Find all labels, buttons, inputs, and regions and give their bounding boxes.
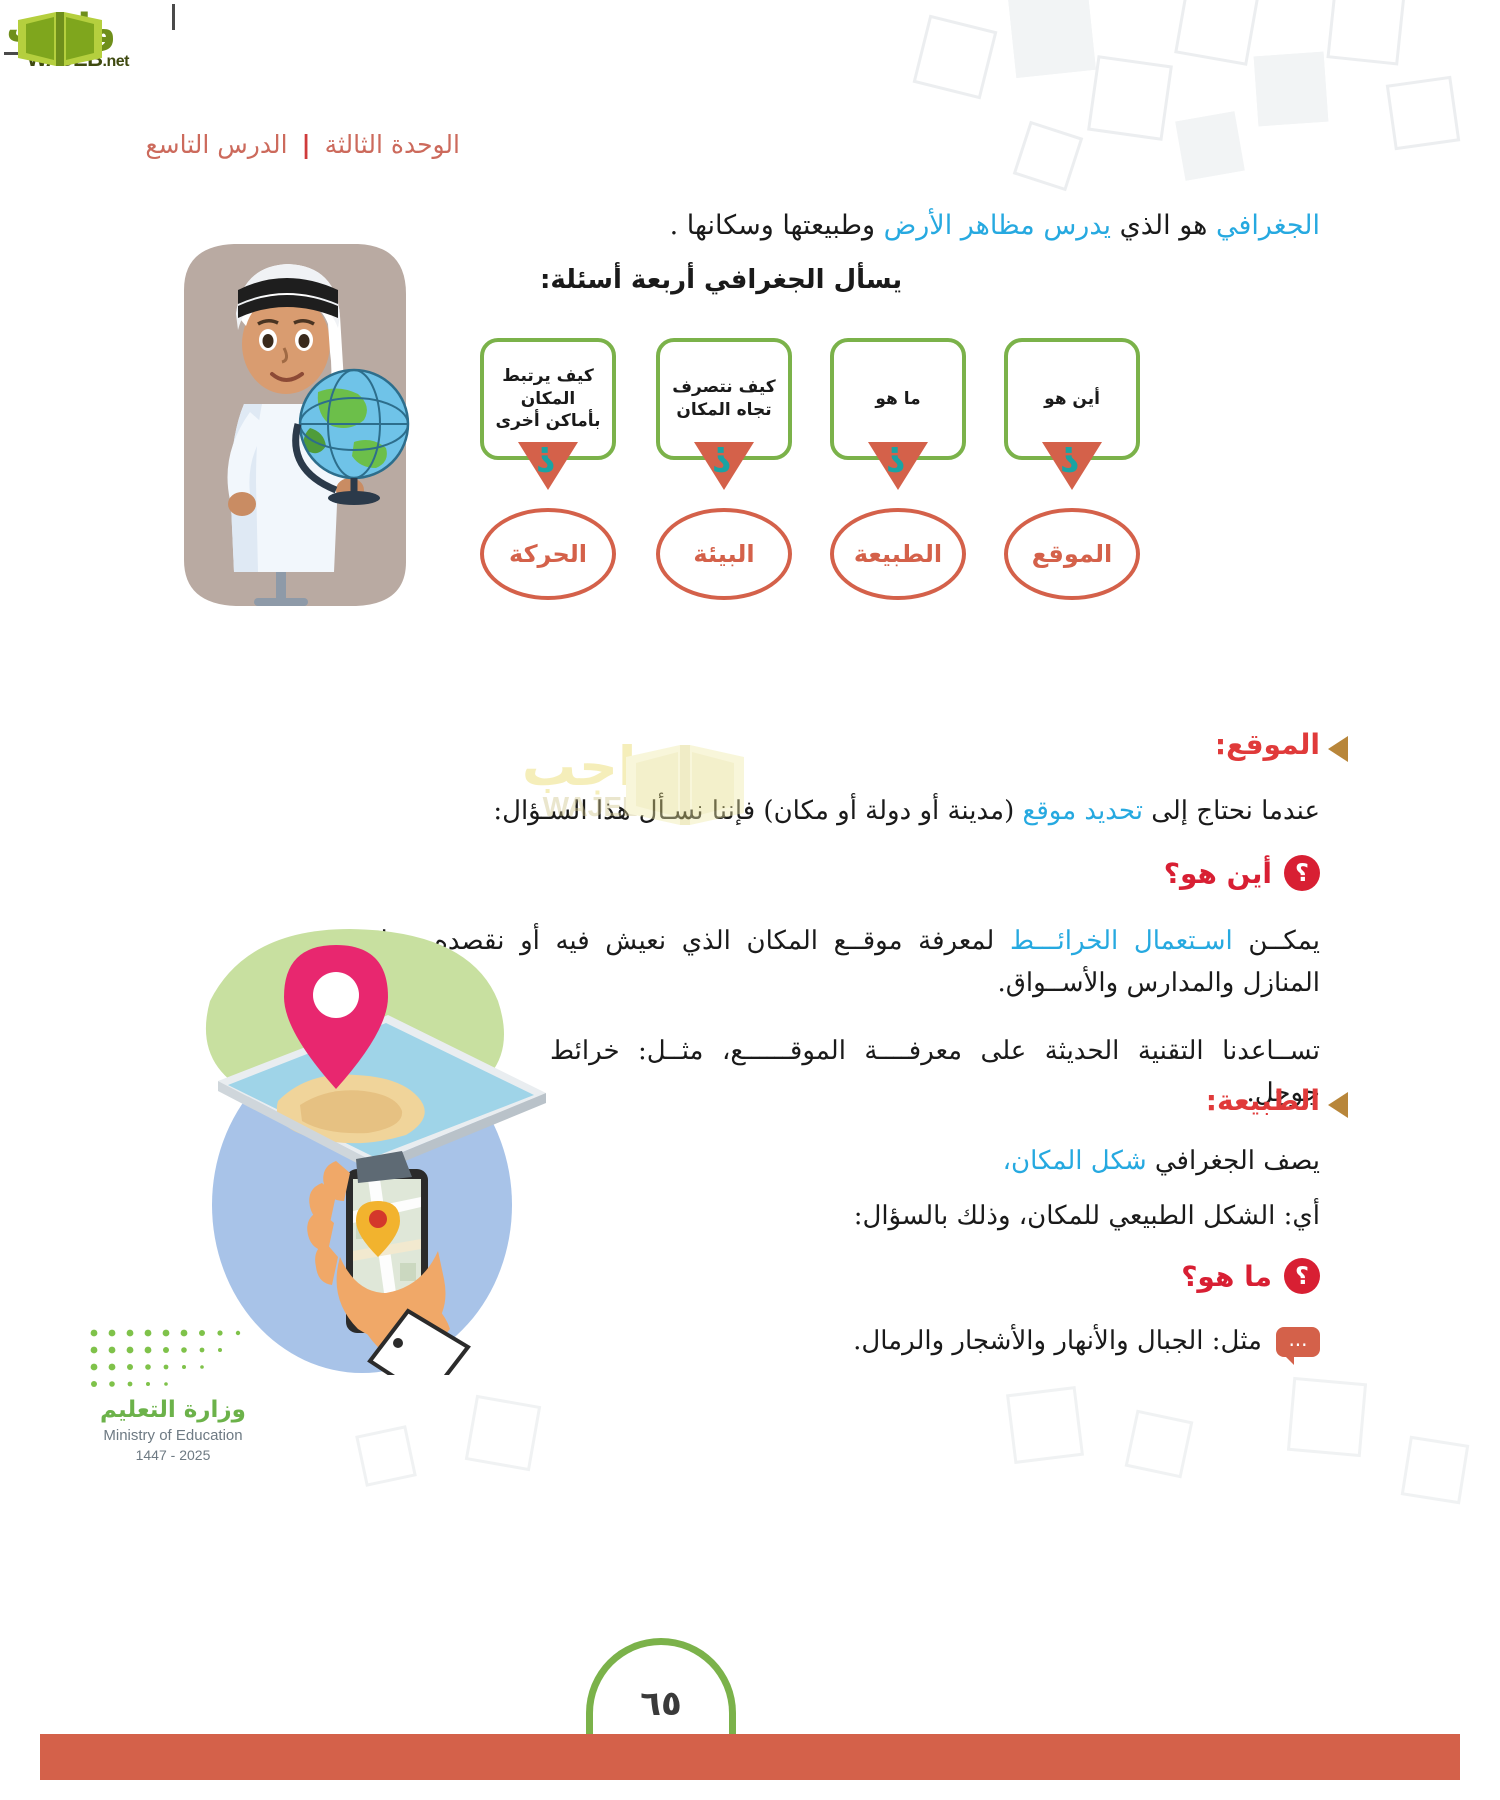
answer-circle-movement[interactable]: الحركة: [480, 508, 616, 600]
question-where-row: ؟أين هو؟: [1164, 855, 1320, 891]
location-paragraph: عندما نحتاج إلى تحديد موقع (مدينة أو دول…: [360, 790, 1320, 832]
nature-example-row: ...مثل: الجبال والأنهار والأشجار والرمال…: [853, 1326, 1320, 1357]
lesson-label: الدرس التاسع: [145, 130, 287, 159]
intro-paragraph: الجغرافي هو الذي يدرس مظاهر الأرض وطبيعت…: [540, 205, 1320, 247]
unit-label: الوحدة الثالثة: [325, 130, 460, 159]
flow-arrow: ؟: [480, 442, 616, 504]
decorative-square: [1087, 55, 1173, 141]
nature-text-1: يصف الجغرافي: [1147, 1146, 1320, 1176]
breadcrumb-separator: |: [296, 130, 317, 159]
decorative-square: [1008, 0, 1096, 78]
decorative-square: [1013, 121, 1084, 192]
question-mark-icon: ؟: [712, 438, 732, 478]
decorative-square: [1175, 111, 1245, 181]
decorative-square: [1254, 52, 1329, 127]
location-keyword: تحديد موقع: [1023, 796, 1143, 826]
flow-arrow: ؟: [1004, 442, 1140, 504]
answer-circle-environment[interactable]: البيئة: [656, 508, 792, 600]
decorative-square: [465, 1395, 541, 1471]
intro-keyword-earth: مظاهر الأرض: [875, 210, 1043, 241]
speech-bubble-icon: ...: [1276, 1327, 1320, 1357]
crop-mark-vertical: [172, 4, 175, 30]
question-mark-icon: ؟: [536, 438, 556, 478]
ministry-years: 2025 - 1447: [78, 1447, 268, 1463]
question-mark-icon: ؟: [1060, 438, 1080, 478]
question-what-row: ؟ما هو؟: [1181, 1258, 1320, 1294]
nature-keyword: شكل المكان،: [1003, 1146, 1147, 1176]
dot-matrix-icon: [86, 1325, 256, 1395]
decorative-square: [1006, 1386, 1084, 1464]
wajeb-watermark-logo: واجب WAJEB.net: [4, 4, 234, 74]
section-heading-nature: الطبيعة:: [1206, 1084, 1320, 1117]
decorative-square: [1174, 0, 1260, 66]
section-bullet-arrow: [1328, 736, 1348, 762]
location-body-keyword: اسـتعمال الخرائـــط: [1010, 926, 1233, 956]
footer-bar: [40, 1734, 1460, 1780]
breadcrumb: الوحدة الثالثة | الدرس التاسع: [145, 130, 460, 159]
nature-paragraph-line2: أي: الشكل الطبيعي للمكان، وذلك بالسؤال:: [550, 1195, 1320, 1237]
location-text-1: عندما نحتاج إلى: [1143, 796, 1320, 826]
intro-keyword-studies: يدرس: [1043, 210, 1111, 241]
flow-arrow: ؟: [656, 442, 792, 504]
answer-circle-location[interactable]: الموقع: [1004, 508, 1140, 600]
intro-keyword-geographer: الجغرافي: [1216, 210, 1320, 241]
decorative-square: [1386, 76, 1461, 151]
ministry-of-education-logo: وزارة التعليم Ministry of Education 2025…: [78, 1325, 278, 1465]
open-book-icon: [14, 8, 106, 72]
location-body-1: يمكــن: [1233, 926, 1320, 956]
boy-with-globe-illustration: [158, 232, 458, 622]
geography-questions-flowchart: أين هو ما هو كيف نتصرف تجاه المكان كيف ي…: [480, 338, 1140, 598]
decorative-square: [913, 15, 998, 100]
question-where-label: أين هو؟: [1164, 857, 1272, 890]
section-bullet-arrow: [1328, 1092, 1348, 1118]
decorative-square: [1287, 1377, 1367, 1457]
decorative-square: [355, 1425, 417, 1487]
textbook-page: واجب WAJEB.net الوحدة الثالثة | الدرس ال…: [0, 0, 1500, 1800]
question-what-label: ما هو؟: [1181, 1260, 1272, 1293]
nature-example-text: مثل: الجبال والأنهار والأشجار والرمال.: [853, 1326, 1262, 1356]
flow-arrow: ؟: [830, 442, 966, 504]
page-number: ٦٥: [586, 1684, 736, 1724]
location-extra-text: تســاعدنا التقنية الحديثة على معرفــــة …: [550, 1036, 1320, 1108]
ministry-name-english: Ministry of Education: [78, 1427, 268, 1444]
answer-circle-nature[interactable]: الطبيعة: [830, 508, 966, 600]
ministry-name-arabic: وزارة التعليم: [78, 1397, 268, 1423]
map-pin-phone-illustration: [150, 905, 570, 1375]
decorative-square: [1125, 1410, 1194, 1479]
intro-text-2: وطبيعتها وسكانها .: [670, 210, 875, 241]
section-heading-location: الموقع:: [1215, 728, 1320, 761]
question-badge-icon: ؟: [1284, 855, 1320, 891]
question-badge-icon: ؟: [1284, 1258, 1320, 1294]
wajeb-watermark-word: واجب: [522, 735, 670, 798]
question-mark-icon: ؟: [886, 438, 906, 478]
decorative-square: [1401, 1436, 1470, 1505]
intro-question-lead: يسأل الجغرافي أربعة أسئلة:: [540, 265, 1320, 295]
decorative-square: [1326, 0, 1405, 66]
nature-paragraph-line1: يصف الجغرافي شكل المكان،: [550, 1140, 1320, 1182]
location-text-2: (مدينة أو دولة أو مكان) فإننا نسـأل هذا …: [493, 796, 1022, 826]
intro-text-1: هو الذي: [1111, 210, 1216, 241]
location-extra-paragraph: تســاعدنا التقنية الحديثة على معرفــــة …: [550, 1030, 1320, 1114]
